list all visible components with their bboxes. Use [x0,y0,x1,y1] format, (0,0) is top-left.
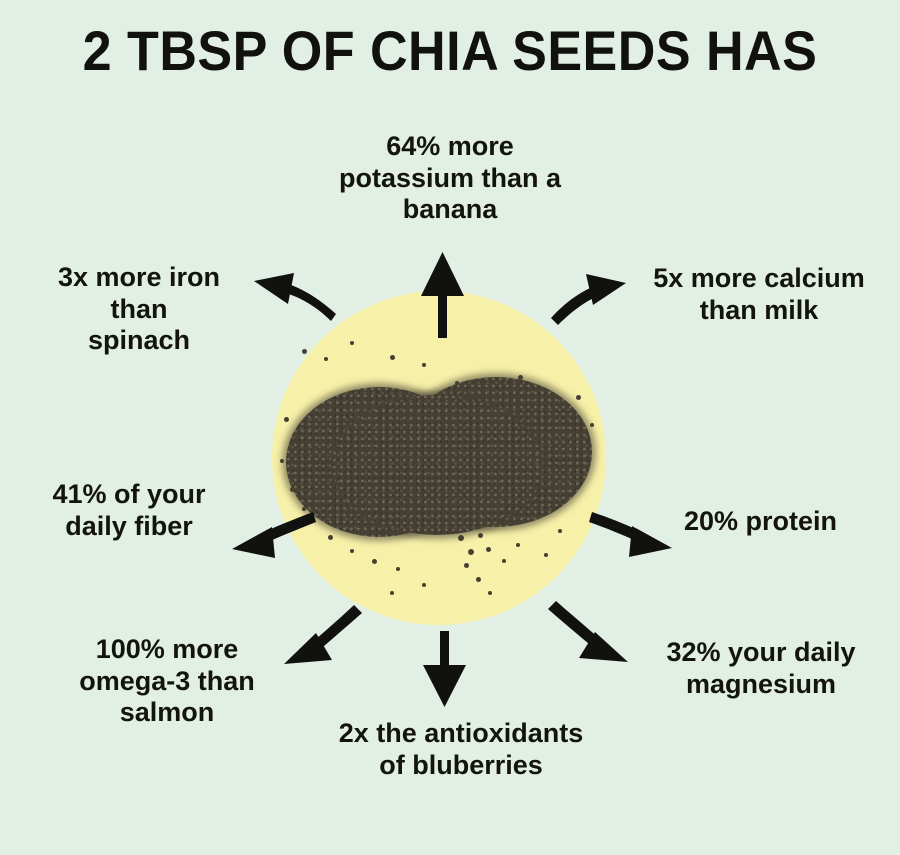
fact-label-antioxidants: 2x the antioxidants of bluberries [296,718,626,781]
infographic-canvas: 2 TBSP OF CHIA SEEDS HAS [0,0,900,855]
arrow-down-left-omega3 [284,605,362,664]
fact-label-calcium: 5x more calcium than milk [628,263,890,326]
arrow-down-right-magnesium [548,601,628,662]
fact-label-fiber: 41% of your daily fiber [22,479,236,542]
fact-label-protein: 20% protein [684,506,900,538]
arrow-up-right-calcium [551,274,626,325]
seed-speck [302,349,307,354]
fact-label-potassium: 64% more potassium than a banana [290,131,610,226]
fact-label-iron: 3x more iron than spinach [24,262,254,357]
page-title: 2 TBSP OF CHIA SEEDS HAS [32,22,869,81]
arrow-down-antioxidants [423,631,466,707]
fact-label-omega3: 100% more omega-3 than salmon [42,634,292,729]
yellow-highlight-circle [272,291,606,625]
arrow-right-protein [589,512,672,557]
fact-label-magnesium: 32% your daily magnesium [632,637,890,700]
arrow-up-left-iron [254,273,336,321]
